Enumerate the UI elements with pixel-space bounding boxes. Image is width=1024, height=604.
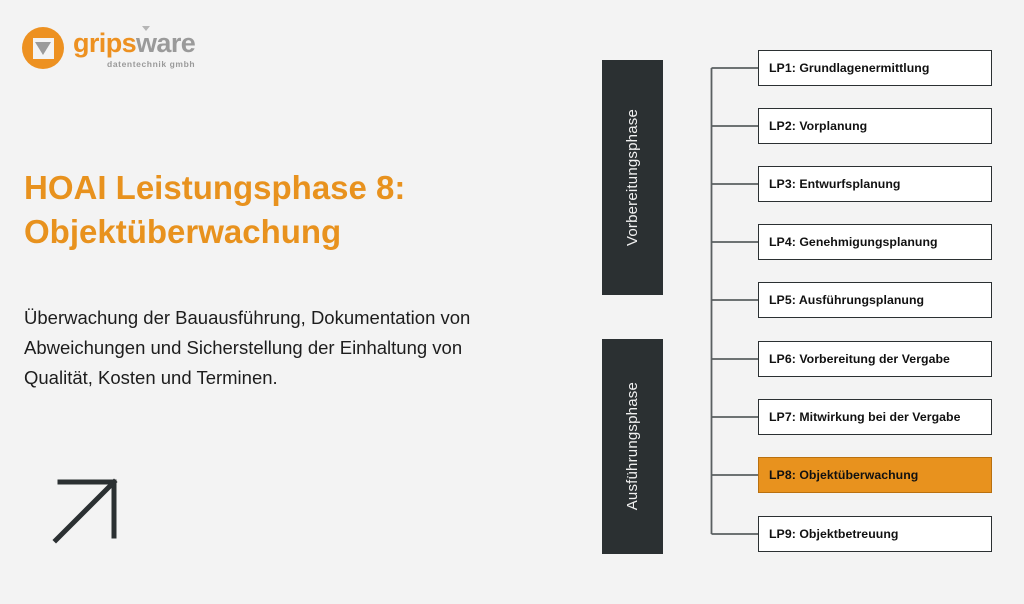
lp-box-lp6[interactable]: LP6: Vorbereitung der Vergabe: [758, 341, 992, 377]
lp-box-lp5[interactable]: LP5: Ausführungsplanung: [758, 282, 992, 318]
lp-box-lp3[interactable]: LP3: Entwurfsplanung: [758, 166, 992, 202]
lp-box-lp4[interactable]: LP4: Genehmigungsplanung: [758, 224, 992, 260]
lp-box-lp8[interactable]: LP8: Objektüberwachung: [758, 457, 992, 493]
lp-box-lp2[interactable]: LP2: Vorplanung: [758, 108, 992, 144]
hoai-phase-diagram: Vorbereitungsphase Ausführungsphase LP1:…: [0, 0, 1024, 604]
lp-box-lp1[interactable]: LP1: Grundlagenermittlung: [758, 50, 992, 86]
lp-box-lp7[interactable]: LP7: Mitwirkung bei der Vergabe: [758, 399, 992, 435]
lp-box-lp9[interactable]: LP9: Objektbetreuung: [758, 516, 992, 552]
